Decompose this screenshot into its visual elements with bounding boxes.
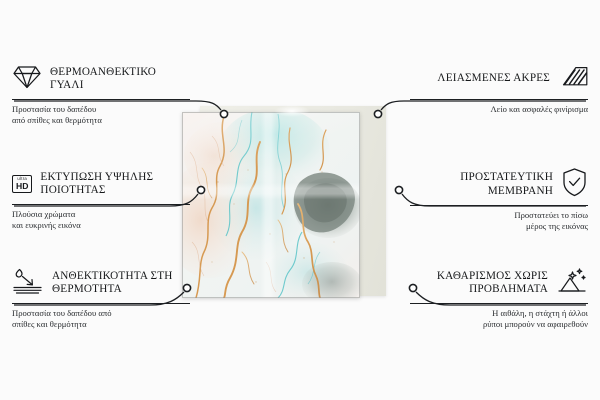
feature-body: Πλούσια χρώματα και ευκρινής εικόνα (12, 209, 190, 230)
product-panel-front (182, 112, 360, 298)
feature-body: Λείο και ασφαλές φινίρισμα (410, 104, 588, 115)
feature-body: Προστασία του δαπέδου από σπίθες και θερ… (12, 104, 190, 125)
feature-title: ΑΝΘΕΚΤΙΚΟΤΗΤΑ ΣΤΗ ΘΕΡΜΟΤΗΤΑ (52, 270, 190, 297)
feature-title: ΠΡΟΣΤΑΤΕΥΤΙΚΗ ΜΕΜΒΡΑΝΗ (410, 171, 553, 198)
feature-title: ΕΚΤΥΠΩΣΗ ΥΨΗΛΗΣ ΠΟΙΟΤΗΤΑΣ (40, 171, 190, 198)
feature-header: ΑΝΘΕΚΤΙΚΟΤΗΤΑ ΣΤΗ ΘΕΡΜΟΤΗΤΑ (12, 266, 190, 300)
polished-edges-icon (558, 64, 588, 95)
feature-heat-resistance: ΑΝΘΕΚΤΙΚΟΤΗΤΑ ΣΤΗ ΘΕΡΜΟΤΗΤΑ Προστασία το… (12, 266, 190, 329)
feature-easy-cleaning: ΚΑΘΑΡΙΣΜΟΣ ΧΩΡΙΣ ΠΡΟΒΛΗΜΑΤΑ Η αιθάλη, η … (410, 266, 588, 329)
feature-title: ΘΕΡΜΟΑΝΘΕΚΤΙΚΟ ΓΥΑΛΙ (50, 66, 190, 93)
feature-body: Προστατεύει το πίσω μέρος της εικόνας (410, 210, 588, 231)
feature-header: ΘΕΡΜΟΑΝΘΕΚΤΙΚΟ ΓΥΑΛΙ (12, 62, 190, 96)
feature-protective-membrane: ΠΡΟΣΤΑΤΕΥΤΙΚΗ ΜΕΜΒΡΑΝΗ Προστατεύει το πί… (410, 167, 588, 231)
divider (410, 99, 588, 100)
feature-header: ΛΕΙΑΣΜΕΝΕΣ ΑΚΡΕΣ (410, 62, 588, 96)
divider (410, 303, 588, 304)
feature-header: ΠΡΟΣΤΑΤΕΥΤΙΚΗ ΜΕΜΒΡΑΝΗ (410, 167, 588, 202)
feature-body: Προστασία του δαπέδου από σπίθες και θερ… (12, 308, 190, 329)
feature-title: ΚΑΘΑΡΙΣΜΟΣ ΧΩΡΙΣ ΠΡΟΒΛΗΜΑΤΑ (410, 270, 548, 297)
divider (12, 303, 190, 304)
divider (410, 205, 588, 206)
feature-title: ΛΕΙΑΣΜΕΝΕΣ ΑΚΡΕΣ (410, 72, 550, 86)
shield-check-icon (561, 167, 588, 202)
feature-heat-resistant-glass: ΘΕΡΜΟΑΝΘΕΚΤΙΚΟ ΓΥΑΛΙ Προστασία του δαπέδ… (12, 62, 190, 125)
ultra-hd-large-label: HD (16, 182, 28, 191)
feature-high-quality-print: ultra HD ΕΚΤΥΠΩΣΗ ΥΨΗΛΗΣ ΠΟΙΟΤΗΤΑΣ Πλούσ… (12, 167, 190, 230)
easy-clean-icon (556, 267, 588, 300)
marble-artwork (182, 112, 360, 298)
ultra-hd-icon: ultra HD (12, 175, 32, 193)
heat-resistance-icon (12, 267, 44, 300)
divider (12, 204, 190, 205)
connector-dot (395, 186, 402, 193)
feature-header: ultra HD ΕΚΤΥΠΩΣΗ ΥΨΗΛΗΣ ΠΟΙΟΤΗΤΑΣ (12, 167, 190, 201)
feature-polished-edges: ΛΕΙΑΣΜΕΝΕΣ ΑΚΡΕΣ Λείο και ασφαλές φινίρι… (410, 62, 588, 115)
feature-body: Η αιθάλη, η στάχτη ή άλλοι ρύποι μπορούν… (410, 308, 588, 329)
divider (12, 99, 190, 100)
infographic-canvas: ΘΕΡΜΟΑΝΘΕΚΤΙΚΟ ΓΥΑΛΙ Προστασία του δαπέδ… (0, 0, 600, 400)
product-image (182, 110, 386, 300)
feature-header: ΚΑΘΑΡΙΣΜΟΣ ΧΩΡΙΣ ΠΡΟΒΛΗΜΑΤΑ (410, 266, 588, 300)
diamond-icon (12, 64, 42, 95)
